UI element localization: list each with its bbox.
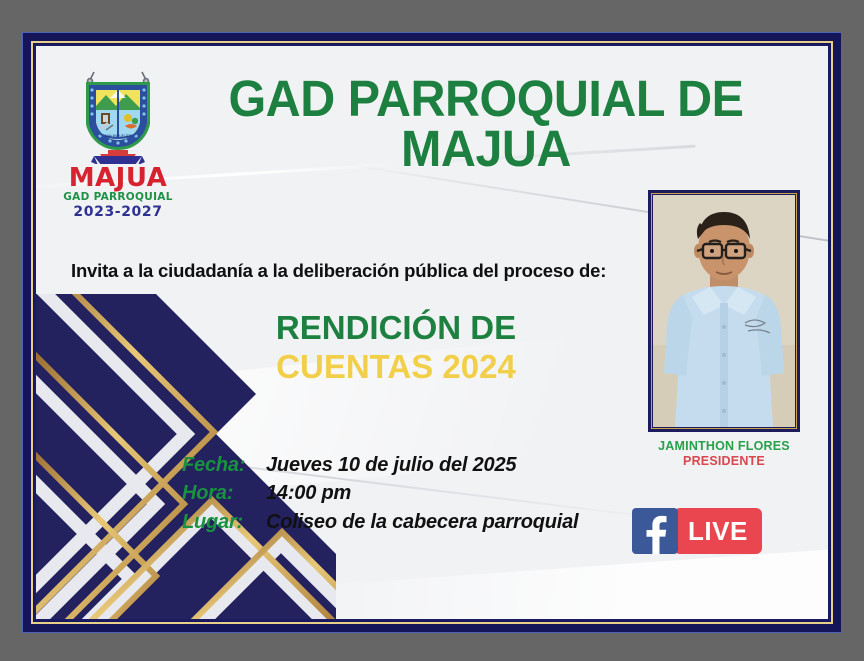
detail-label-fecha: Fecha: [182,451,266,479]
headline-line-2: CUENTAS 2024 [186,349,606,385]
coat-of-arms-shield-icon: SAN MIGUELITO [70,68,166,164]
event-details: Fecha:Jueves 10 de julio del 2025 Hora:1… [182,451,578,536]
portrait-photo [653,195,795,427]
detail-row-hora: Hora:14:00 pm [182,479,578,507]
svg-text:SAN MIGUELITO: SAN MIGUELITO [105,134,132,138]
president-portrait-block: JAMINTHON FLORES PRESIDENTE [648,190,800,469]
poster-canvas: SAN MIGUELITO MAJUA GAD PARROQUIAL 2023-… [0,0,864,661]
headline-line-1: RENDICIÓN DE [186,310,606,346]
poster-title: GAD PARROQUIAL DE MAJUA [173,74,800,174]
live-label[interactable]: LIVE [674,508,762,554]
facebook-f-icon[interactable] [632,508,678,554]
logo-period: 2023-2027 [62,204,174,221]
detail-label-lugar: Lugar: [182,508,266,536]
detail-row-fecha: Fecha:Jueves 10 de julio del 2025 [182,451,578,479]
portrait-role: PRESIDENTE [648,454,800,469]
portrait-name: JAMINTHON FLORES [648,439,800,454]
detail-value-lugar: Coliseo de la cabecera parroquial [266,511,578,533]
logo-title: MAJUA [62,165,174,191]
poster-title-line-1: GAD PARROQUIAL DE [228,70,743,127]
poster-title-line-2: MAJUA [401,120,571,177]
detail-value-fecha: Jueves 10 de julio del 2025 [266,454,516,476]
logo-subtitle: GAD PARROQUIAL [62,191,174,204]
person-portrait-photo [653,195,795,427]
poster-page: SAN MIGUELITO MAJUA GAD PARROQUIAL 2023-… [36,46,828,619]
invitation-text: Invita a la ciudadanía a la deliberación… [71,258,646,284]
detail-label-hora: Hora: [182,479,266,507]
event-headline: RENDICIÓN DE CUENTAS 2024 [186,310,606,384]
background-swoosh-5 [284,544,828,619]
portrait-frame [648,190,800,432]
majua-logo: SAN MIGUELITO MAJUA GAD PARROQUIAL 2023-… [62,68,174,221]
detail-value-hora: 14:00 pm [266,482,351,504]
portrait-caption: JAMINTHON FLORES PRESIDENTE [648,439,800,469]
facebook-live-badge[interactable]: LIVE [632,508,762,554]
detail-row-lugar: Lugar:Coliseo de la cabecera parroquial [182,508,578,536]
